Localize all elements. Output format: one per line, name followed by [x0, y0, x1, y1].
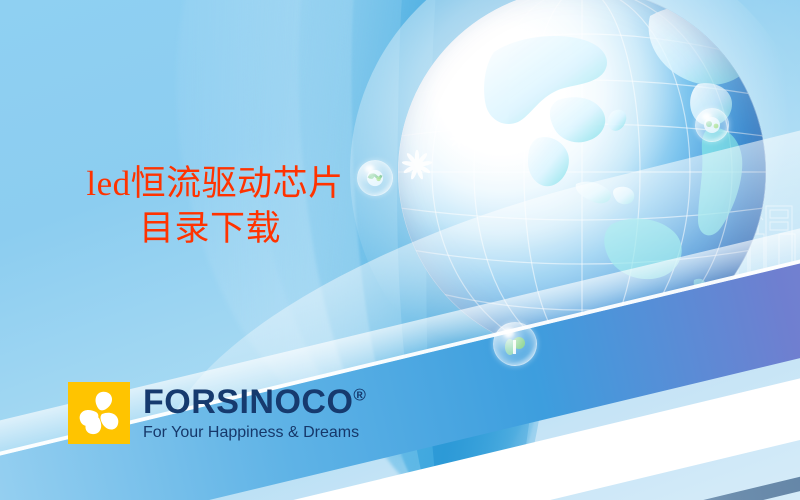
four-petal-pinwheel-icon: [68, 382, 130, 444]
page-title: led恒流驱动芯片 目录下载: [0, 162, 420, 252]
brand-name: FORSINOCO®: [143, 385, 366, 419]
brand-tagline: For Your Happiness & Dreams: [143, 425, 366, 441]
registered-trademark-icon: ®: [353, 386, 366, 405]
bubble-globe-icon: [695, 108, 729, 142]
brand-logo: FORSINOCO® For Your Happiness & Dreams: [68, 382, 366, 444]
headline-line-2: 目录下载: [0, 207, 420, 252]
bubble-leaf-icon: [493, 322, 537, 366]
brand-name-text: FORSINOCO: [143, 383, 353, 421]
promo-banner: led恒流驱动芯片 目录下载 FORSINOCO® For Your Happi…: [0, 0, 800, 500]
headline-line-1: led恒流驱动芯片: [0, 162, 420, 207]
asterisk-flower-icon: [448, 128, 470, 150]
globe-icon: [398, 0, 766, 356]
background-band: [470, 416, 800, 500]
